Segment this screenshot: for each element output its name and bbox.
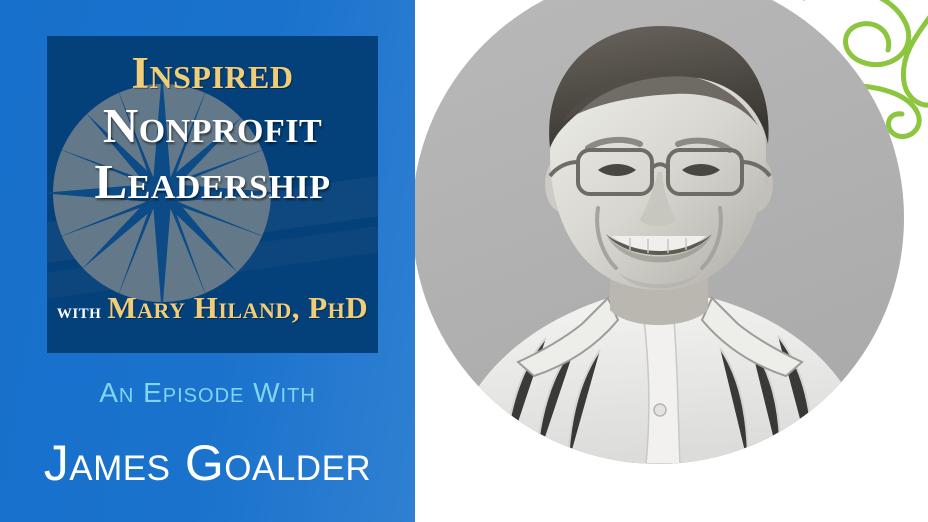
cover-title-line-1: Inspired (47, 48, 378, 98)
episode-graphic: Inspired Nonprofit Leadership withMary H… (0, 0, 928, 522)
cover-byline-prefix: with (57, 298, 102, 323)
headshot-illustration (415, 0, 904, 464)
cover-title-line-2: Nonprofit (47, 98, 378, 153)
cover-byline-host: Mary Hiland, PhD (107, 290, 368, 325)
cover-title-block: Inspired Nonprofit Leadership withMary H… (47, 36, 378, 353)
left-blue-panel: Inspired Nonprofit Leadership withMary H… (0, 0, 415, 522)
cover-byline: withMary Hiland, PhD (47, 290, 378, 326)
episode-guest-name: James Goalder (0, 434, 415, 492)
podcast-cover-art: Inspired Nonprofit Leadership withMary H… (47, 36, 378, 353)
photo-panel (415, 0, 928, 522)
cover-title-line-3: Leadership (47, 154, 378, 209)
episode-kicker: An Episode With (0, 377, 415, 409)
guest-headshot-photo (415, 0, 904, 464)
